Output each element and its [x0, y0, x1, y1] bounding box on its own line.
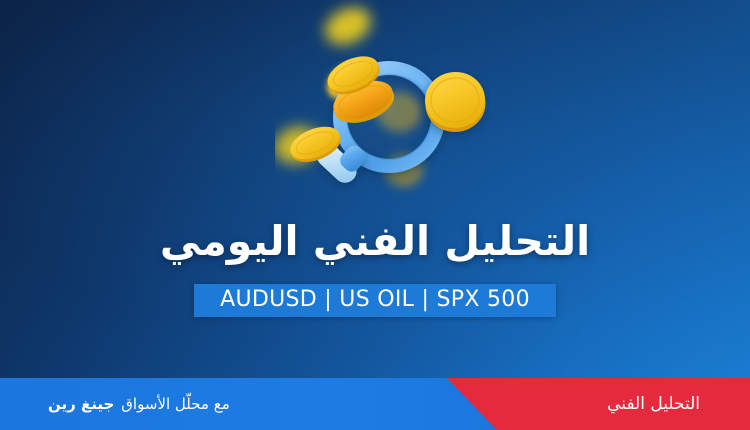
footer-bar: مع محلّل الأسواق جينغ رين التحليل الفني [0, 378, 750, 430]
footer-presenter: مع محلّل الأسواق جينغ رين [48, 378, 230, 430]
footer-red-panel [447, 378, 750, 430]
hero-illustration [275, 0, 490, 205]
footer-presenter-prefix: مع محلّل الأسواق [121, 395, 229, 413]
instruments-badge: AUDUSD | US OIL | SPX 500 [194, 284, 556, 317]
footer-category-label: التحليل الفني [607, 378, 700, 430]
subtitle-badge-wrap: AUDUSD | US OIL | SPX 500 [0, 284, 750, 317]
footer-presenter-name: جينغ رين [48, 395, 114, 413]
promo-banner: التحليل الفني اليومي AUDUSD | US OIL | S… [0, 0, 750, 430]
coin-top-blurred [319, 0, 377, 52]
banner-title: التحليل الفني اليومي [0, 216, 750, 266]
